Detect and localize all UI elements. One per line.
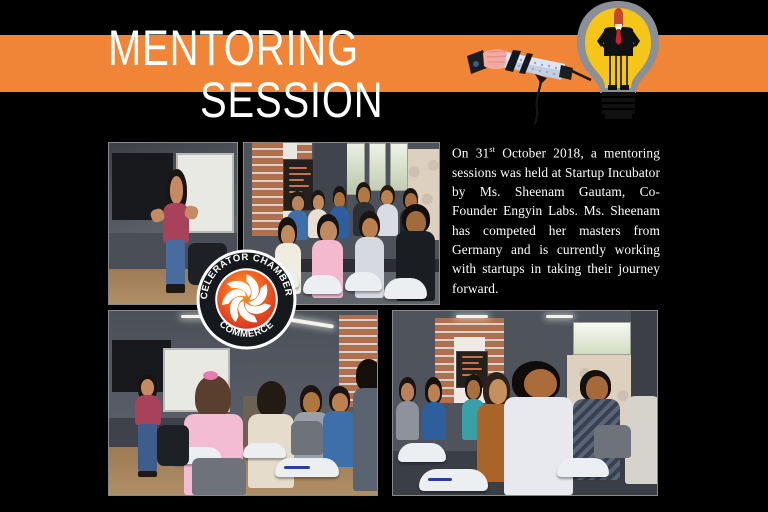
photo-students (392, 310, 658, 496)
startup-accelerator-chamber-of-commerce-logo: ACCELERATOR CHAMBER OF COMMERCE (196, 249, 297, 350)
article-day: 31 (476, 145, 490, 160)
lightbulb-businessman-illustration (455, 0, 670, 124)
article-pre: On (452, 145, 476, 160)
article-rest: October 2018, a mentoring sessions was h… (452, 145, 660, 295)
bulb-base (602, 92, 635, 119)
mentoring-session-poster: MENTORING SESSION (0, 0, 768, 512)
hand-with-tool (467, 49, 591, 124)
article-paragraph: On 31st October 2018, a mentoring sessio… (452, 140, 660, 298)
